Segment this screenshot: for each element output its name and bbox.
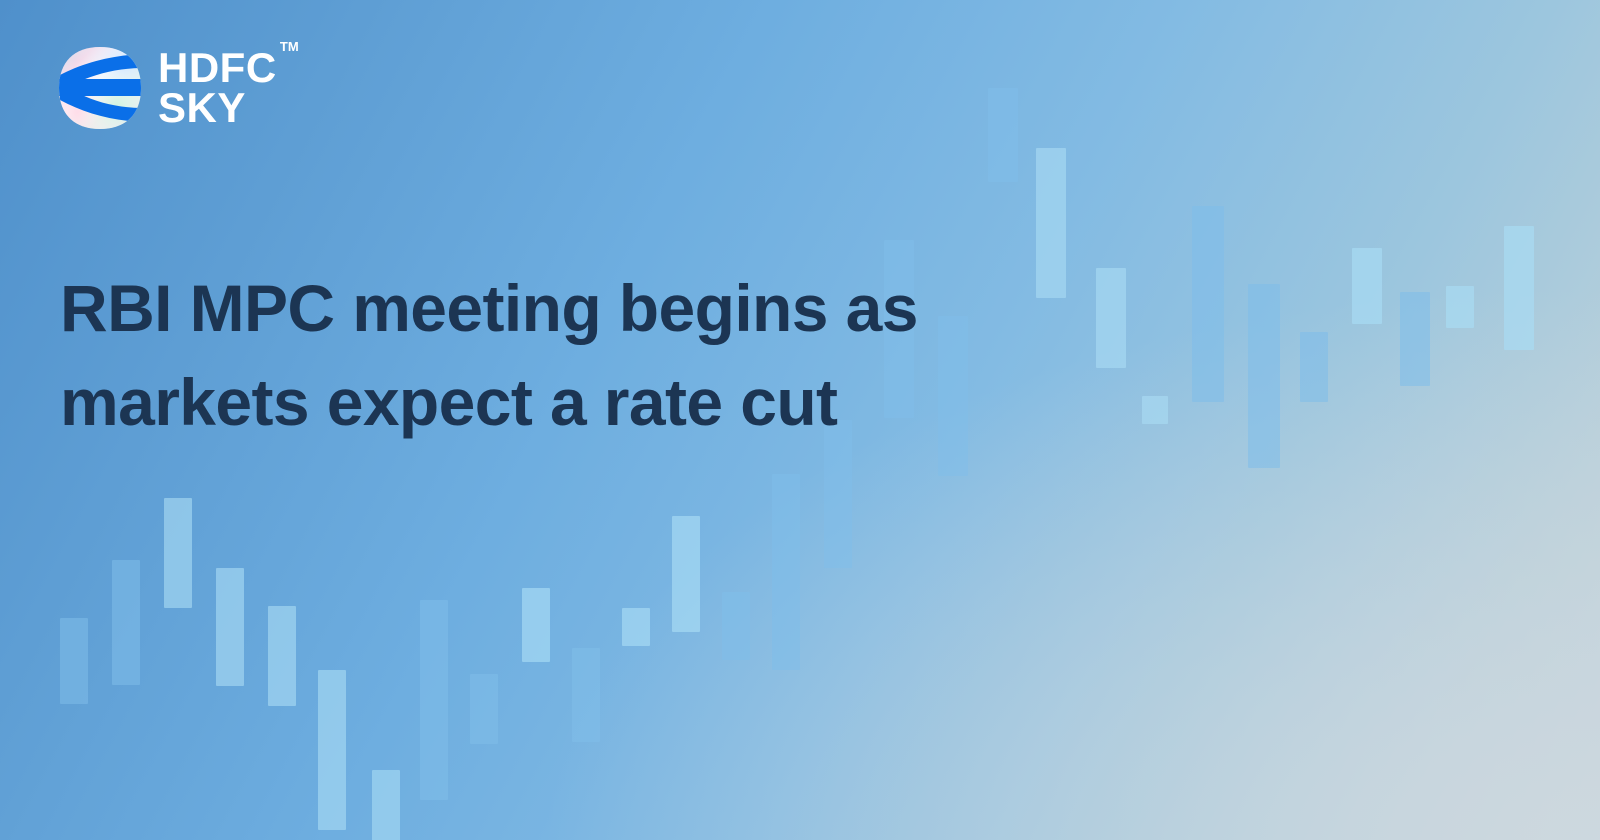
banner-root: HDFC SKY TM RBI MPC meeting begins as ma…: [0, 0, 1600, 840]
candlestick-bar: [572, 648, 600, 742]
candlestick-bar: [1352, 248, 1382, 324]
brand-name-line1: HDFC: [158, 48, 277, 88]
candlestick-bar: [772, 474, 800, 670]
brand-name-line2: SKY: [158, 88, 277, 128]
page-title: RBI MPC meeting begins as markets expect…: [60, 262, 1140, 449]
candlestick-bar: [112, 560, 140, 685]
candlestick-bar: [1192, 206, 1224, 402]
headline-line-2: markets expect a rate cut: [60, 356, 1140, 450]
candlestick-bar: [1300, 332, 1328, 402]
candlestick-bar: [1142, 396, 1168, 424]
candlestick-bar: [420, 600, 448, 800]
candlestick-bar: [622, 608, 650, 646]
candlestick-bar: [470, 674, 498, 744]
brand-logo[interactable]: HDFC SKY TM: [58, 46, 299, 130]
candlestick-bar: [318, 670, 346, 830]
candlestick-bar: [722, 592, 750, 660]
candlestick-bar: [1504, 226, 1534, 350]
candlestick-bar: [1446, 286, 1474, 328]
candlestick-bar: [216, 568, 244, 686]
candlestick-bar: [522, 588, 550, 662]
candlestick-bar: [672, 516, 700, 632]
headline-line-1: RBI MPC meeting begins as: [60, 262, 1140, 356]
candlestick-bar: [268, 606, 296, 706]
candlestick-bar: [988, 88, 1018, 182]
brand-wordmark: HDFC SKY TM: [158, 48, 299, 129]
candlestick-bar: [1400, 292, 1430, 386]
candlestick-bar: [60, 618, 88, 704]
candlestick-bar: [1248, 284, 1280, 468]
candlestick-bar: [164, 498, 192, 608]
hdfc-sky-logo-icon: [58, 46, 142, 130]
trademark-symbol: TM: [280, 40, 299, 53]
candlestick-bar: [372, 770, 400, 840]
